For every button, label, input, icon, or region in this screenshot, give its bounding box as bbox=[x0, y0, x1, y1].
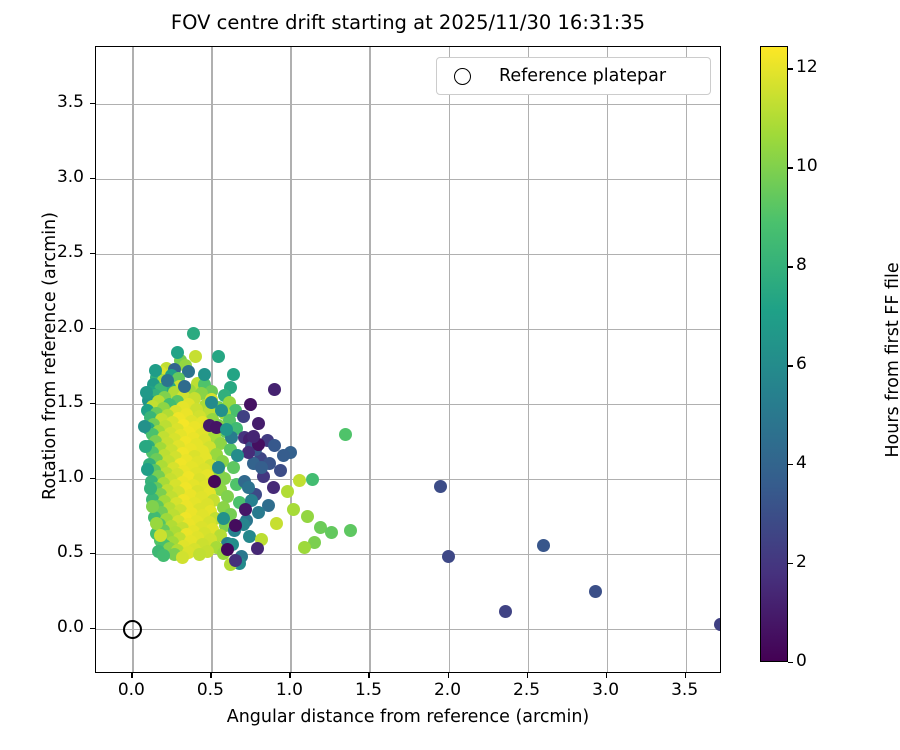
x-tick-mark bbox=[289, 673, 290, 678]
scatter-point bbox=[270, 517, 283, 530]
gridline-horizontal bbox=[96, 479, 720, 480]
scatter-point bbox=[182, 426, 195, 439]
scatter-point bbox=[225, 431, 238, 444]
scatter-point bbox=[223, 396, 236, 409]
scatter-point bbox=[160, 513, 173, 526]
scatter-point bbox=[154, 529, 167, 542]
x-tick-label: 3.0 bbox=[576, 680, 636, 700]
scatter-point bbox=[184, 489, 197, 502]
scatter-point bbox=[180, 528, 193, 541]
y-tick-mark bbox=[90, 403, 95, 404]
scatter-point bbox=[217, 501, 230, 514]
scatter-point bbox=[199, 399, 212, 412]
scatter-point bbox=[267, 481, 280, 494]
scatter-point bbox=[182, 365, 195, 378]
scatter-point bbox=[172, 440, 185, 453]
scatter-point bbox=[155, 460, 168, 473]
scatter-point bbox=[242, 446, 255, 459]
scatter-point bbox=[207, 494, 220, 507]
scatter-plot-axes[interactable] bbox=[95, 46, 721, 673]
scatter-point bbox=[191, 485, 204, 498]
scatter-point bbox=[161, 530, 174, 543]
scatter-point bbox=[169, 526, 182, 539]
scatter-point bbox=[165, 444, 178, 457]
scatter-point bbox=[218, 407, 231, 420]
gridline-vertical bbox=[528, 47, 529, 672]
scatter-point bbox=[150, 517, 163, 530]
scatter-point bbox=[261, 434, 274, 447]
scatter-point bbox=[158, 449, 171, 462]
scatter-point bbox=[203, 406, 216, 419]
scatter-point bbox=[203, 419, 216, 432]
scatter-point bbox=[249, 488, 262, 501]
gridline-vertical bbox=[211, 47, 212, 672]
scatter-point bbox=[208, 430, 221, 443]
gridline-vertical bbox=[686, 47, 687, 672]
scatter-point bbox=[168, 386, 181, 399]
scatter-point bbox=[154, 488, 167, 501]
scatter-point bbox=[196, 445, 209, 458]
scatter-point bbox=[161, 409, 174, 422]
scatter-point bbox=[141, 463, 154, 476]
scatter-point bbox=[167, 509, 180, 522]
scatter-point bbox=[287, 503, 300, 516]
scatter-point bbox=[212, 419, 225, 432]
scatter-point bbox=[157, 524, 170, 537]
scatter-point bbox=[154, 383, 167, 396]
scatter-point bbox=[184, 443, 197, 456]
colorbar-tick-mark bbox=[788, 662, 793, 663]
scatter-point bbox=[245, 494, 258, 507]
scatter-point bbox=[144, 482, 157, 495]
scatter-point bbox=[189, 350, 202, 363]
scatter-point bbox=[150, 527, 163, 540]
colorbar-tick-mark bbox=[788, 167, 793, 168]
scatter-point bbox=[159, 420, 172, 433]
scatter-point bbox=[152, 545, 165, 558]
figure-canvas: FOV centre drift starting at 2025/11/30 … bbox=[0, 0, 900, 750]
colorbar-gradient bbox=[760, 46, 788, 662]
scatter-point bbox=[185, 415, 198, 428]
scatter-point bbox=[238, 475, 251, 488]
scatter-point bbox=[249, 443, 262, 456]
scatter-point bbox=[154, 534, 167, 547]
scatter-point bbox=[148, 464, 161, 477]
x-tick-mark bbox=[131, 673, 132, 678]
scatter-point bbox=[154, 442, 167, 455]
scatter-point bbox=[229, 519, 242, 532]
colorbar-label: Hours from first FF file bbox=[883, 50, 900, 670]
scatter-point bbox=[257, 470, 270, 483]
scatter-point bbox=[182, 518, 195, 531]
scatter-point bbox=[237, 410, 250, 423]
scatter-point bbox=[190, 515, 203, 528]
scatter-point bbox=[198, 463, 211, 476]
scatter-point bbox=[177, 465, 190, 478]
scatter-point bbox=[214, 529, 227, 542]
scatter-point bbox=[214, 437, 227, 450]
scatter-point bbox=[235, 550, 248, 563]
scatter-point bbox=[188, 392, 201, 405]
scatter-point bbox=[226, 538, 239, 551]
scatter-point bbox=[254, 452, 267, 465]
scatter-point bbox=[187, 479, 200, 492]
scatter-point bbox=[144, 386, 157, 399]
scatter-point bbox=[308, 536, 321, 549]
scatter-point bbox=[182, 471, 195, 484]
x-tick-label: 0.5 bbox=[180, 680, 240, 700]
scatter-point bbox=[177, 540, 190, 553]
scatter-point bbox=[221, 537, 234, 550]
scatter-point bbox=[180, 500, 193, 513]
scatter-point bbox=[227, 368, 240, 381]
y-tick-mark bbox=[90, 478, 95, 479]
scatter-point bbox=[169, 405, 182, 418]
scatter-point bbox=[243, 530, 256, 543]
scatter-point bbox=[203, 516, 216, 529]
scatter-point bbox=[176, 476, 189, 489]
scatter-point bbox=[151, 500, 164, 513]
scatter-point bbox=[147, 418, 160, 431]
colorbar-tick-mark bbox=[788, 68, 793, 69]
gridline-horizontal bbox=[96, 629, 720, 630]
y-tick-mark bbox=[90, 328, 95, 329]
scatter-point bbox=[298, 541, 311, 554]
scatter-point bbox=[219, 425, 232, 438]
scatter-point bbox=[174, 458, 187, 471]
scatter-point bbox=[147, 378, 160, 391]
scatter-point bbox=[243, 433, 256, 446]
scatter-point bbox=[150, 371, 163, 384]
scatter-point bbox=[191, 531, 204, 544]
scatter-point bbox=[158, 391, 171, 404]
scatter-point bbox=[224, 508, 237, 521]
scatter-point bbox=[221, 490, 234, 503]
gridline-horizontal bbox=[96, 329, 720, 330]
colorbar-tick-label: 0 bbox=[796, 651, 807, 671]
scatter-point bbox=[212, 350, 225, 363]
scatter-point bbox=[212, 461, 225, 474]
scatter-point bbox=[268, 383, 281, 396]
scatter-point bbox=[179, 482, 192, 495]
scatter-point bbox=[198, 527, 211, 540]
scatter-point bbox=[148, 511, 161, 524]
x-tick-mark bbox=[448, 673, 449, 678]
gridline-vertical bbox=[290, 47, 291, 672]
scatter-point bbox=[220, 423, 233, 436]
scatter-point bbox=[179, 359, 192, 372]
scatter-point bbox=[174, 429, 187, 442]
scatter-point bbox=[240, 514, 253, 527]
x-tick-label: 1.0 bbox=[259, 680, 319, 700]
scatter-point bbox=[187, 525, 200, 538]
scatter-point bbox=[325, 526, 338, 539]
colorbar-tick-label: 4 bbox=[796, 453, 807, 473]
colorbar-tick-label: 6 bbox=[796, 354, 807, 374]
gridline-vertical bbox=[132, 47, 133, 672]
scatter-point bbox=[163, 502, 176, 515]
scatter-point bbox=[188, 450, 201, 463]
scatter-point bbox=[212, 401, 225, 414]
scatter-point bbox=[152, 470, 165, 483]
scatter-point bbox=[344, 524, 357, 537]
scatter-point bbox=[212, 466, 225, 479]
x-axis-label: Angular distance from reference (arcmin) bbox=[95, 707, 721, 727]
scatter-point bbox=[252, 438, 265, 451]
scatter-point bbox=[293, 474, 306, 487]
scatter-point bbox=[141, 404, 154, 417]
scatter-point bbox=[247, 430, 260, 443]
scatter-point bbox=[138, 420, 151, 433]
scatter-point bbox=[146, 500, 159, 513]
scatter-point bbox=[149, 435, 162, 448]
scatter-point bbox=[177, 390, 190, 403]
scatter-point bbox=[193, 410, 206, 423]
scatter-point bbox=[155, 413, 168, 426]
scatter-point bbox=[233, 557, 246, 570]
scatter-point bbox=[196, 509, 209, 522]
colorbar-tick-label: 10 bbox=[796, 156, 818, 176]
scatter-point bbox=[169, 479, 182, 492]
scatter-point bbox=[268, 439, 281, 452]
scatter-point bbox=[149, 389, 162, 402]
scatter-point bbox=[145, 475, 158, 488]
scatter-point bbox=[239, 503, 252, 516]
scatter-point bbox=[255, 533, 268, 546]
scatter-point bbox=[217, 512, 230, 525]
colorbar-tick-mark bbox=[788, 563, 793, 564]
scatter-point bbox=[143, 458, 156, 471]
gridline-horizontal bbox=[96, 554, 720, 555]
scatter-point bbox=[224, 443, 237, 456]
scatter-point bbox=[139, 440, 152, 453]
y-axis-label: Rotation from reference (arcmin) bbox=[40, 41, 60, 671]
gridline-horizontal bbox=[96, 404, 720, 405]
scatter-point bbox=[224, 381, 237, 394]
scatter-point bbox=[160, 362, 173, 375]
x-tick-label: 2.0 bbox=[418, 680, 478, 700]
scatter-point bbox=[142, 440, 155, 453]
scatter-point bbox=[214, 483, 227, 496]
scatter-point bbox=[160, 467, 173, 480]
x-tick-label: 3.5 bbox=[655, 680, 715, 700]
scatter-point bbox=[178, 380, 191, 393]
scatter-point bbox=[262, 499, 275, 512]
scatter-point bbox=[247, 457, 260, 470]
colorbar-tick-mark bbox=[788, 266, 793, 267]
scatter-point bbox=[195, 428, 208, 441]
scatter-point bbox=[140, 386, 153, 399]
scatter-point bbox=[172, 486, 185, 499]
scatter-point bbox=[206, 413, 219, 426]
scatter-point bbox=[150, 482, 163, 495]
scatter-point bbox=[158, 539, 171, 552]
scatter-point bbox=[537, 539, 550, 552]
scatter-point bbox=[230, 422, 243, 435]
scatter-point bbox=[229, 404, 242, 417]
scatter-point bbox=[191, 377, 204, 390]
scatter-point bbox=[166, 536, 179, 549]
scatter-point bbox=[281, 485, 294, 498]
colorbar-tick-label: 12 bbox=[796, 57, 818, 77]
scatter-point bbox=[176, 522, 189, 535]
colorbar-tick-mark bbox=[788, 464, 793, 465]
scatter-point bbox=[184, 535, 197, 548]
scatter-point bbox=[198, 378, 211, 391]
legend-entry-label: Reference platepar bbox=[499, 66, 666, 86]
scatter-point bbox=[158, 495, 171, 508]
gridline-horizontal bbox=[96, 104, 720, 105]
scatter-point bbox=[196, 538, 209, 551]
y-tick-mark bbox=[90, 628, 95, 629]
scatter-point bbox=[188, 497, 201, 510]
scatter-point bbox=[227, 461, 240, 474]
scatter-point bbox=[188, 421, 201, 434]
scatter-point bbox=[245, 441, 258, 454]
scatter-point bbox=[203, 487, 216, 500]
scatter-point bbox=[252, 417, 265, 430]
scatter-point bbox=[146, 428, 159, 441]
scatter-point bbox=[172, 372, 185, 385]
scatter-point bbox=[223, 414, 236, 427]
scatter-point bbox=[190, 438, 203, 451]
scatter-point bbox=[172, 412, 185, 425]
scatter-point bbox=[161, 374, 174, 387]
scatter-point bbox=[144, 411, 157, 424]
scatter-point bbox=[203, 441, 216, 454]
scatter-point bbox=[163, 381, 176, 394]
scatter-point bbox=[165, 491, 178, 504]
colorbar-tick-mark bbox=[788, 365, 793, 366]
scatter-point bbox=[173, 532, 186, 545]
scatter-point bbox=[277, 449, 290, 462]
gridline-vertical bbox=[607, 47, 608, 672]
scatter-point bbox=[274, 464, 287, 477]
scatter-point bbox=[233, 496, 246, 509]
x-tick-label: 2.5 bbox=[497, 680, 557, 700]
scatter-point bbox=[183, 384, 196, 397]
scatter-point bbox=[174, 504, 187, 517]
scatter-point bbox=[218, 389, 231, 402]
scatter-point bbox=[229, 554, 242, 567]
scatter-point bbox=[198, 368, 211, 381]
gridline-vertical bbox=[369, 47, 370, 672]
scatter-point bbox=[180, 454, 193, 467]
x-tick-mark bbox=[606, 673, 607, 678]
scatter-point bbox=[177, 494, 190, 507]
scatter-point bbox=[171, 395, 184, 408]
scatter-point bbox=[169, 451, 182, 464]
x-tick-label: 1.5 bbox=[338, 680, 398, 700]
scatter-point bbox=[179, 512, 192, 525]
scatter-point bbox=[185, 507, 198, 520]
scatter-point bbox=[177, 419, 190, 432]
scatter-point bbox=[499, 605, 512, 618]
scatter-point bbox=[182, 546, 195, 559]
gridline-horizontal bbox=[96, 254, 720, 255]
scatter-point bbox=[161, 484, 174, 497]
scatter-point bbox=[215, 404, 228, 417]
scatter-point bbox=[255, 461, 268, 474]
scatter-point bbox=[187, 432, 200, 445]
scatter-point bbox=[162, 455, 175, 468]
scatter-point bbox=[195, 521, 208, 534]
scatter-point bbox=[161, 437, 174, 450]
y-tick-mark bbox=[90, 178, 95, 179]
x-tick-label: 0.0 bbox=[101, 680, 161, 700]
gridline-horizontal bbox=[96, 179, 720, 180]
scatter-point bbox=[185, 461, 198, 474]
scatter-point bbox=[242, 481, 255, 494]
scatter-point bbox=[339, 428, 352, 441]
scatter-point bbox=[172, 515, 185, 528]
scatter-point bbox=[216, 455, 229, 468]
scatter-point bbox=[198, 434, 211, 447]
scatter-point bbox=[219, 519, 232, 532]
x-tick-mark bbox=[685, 673, 686, 678]
scatter-point bbox=[157, 549, 170, 562]
reference-platepar-marker bbox=[123, 620, 142, 639]
colorbar[interactable] bbox=[760, 46, 788, 662]
scatter-point bbox=[180, 408, 193, 421]
scatter-point bbox=[238, 431, 251, 444]
legend-box[interactable]: Reference platepar bbox=[436, 57, 711, 95]
scatter-point bbox=[208, 475, 221, 488]
scatter-point bbox=[157, 374, 170, 387]
colorbar-tick-label: 2 bbox=[796, 552, 807, 572]
legend-open-circle-icon bbox=[454, 68, 471, 85]
scatter-point bbox=[171, 346, 184, 359]
gridline-vertical bbox=[449, 47, 450, 672]
y-tick-mark bbox=[90, 103, 95, 104]
scatter-point bbox=[237, 518, 250, 531]
scatter-point bbox=[153, 518, 166, 531]
scatter-point bbox=[170, 497, 183, 510]
scatter-point bbox=[191, 456, 204, 469]
scatter-point bbox=[231, 449, 244, 462]
scatter-point bbox=[434, 480, 447, 493]
scatter-point bbox=[166, 416, 179, 429]
scatter-point bbox=[176, 447, 189, 460]
scatter-point bbox=[146, 446, 159, 459]
scatter-point bbox=[146, 493, 159, 506]
scatter-point bbox=[165, 369, 178, 382]
scatter-point bbox=[146, 400, 159, 413]
scatter-point bbox=[174, 354, 187, 367]
scatter-point bbox=[171, 423, 184, 436]
y-tick-mark bbox=[90, 553, 95, 554]
scatter-point bbox=[314, 521, 327, 534]
scatter-point bbox=[589, 585, 602, 598]
y-tick-mark bbox=[90, 253, 95, 254]
scatter-point bbox=[168, 363, 181, 376]
x-tick-mark bbox=[368, 673, 369, 678]
scatter-point bbox=[168, 433, 181, 446]
colorbar-tick-label: 8 bbox=[796, 255, 807, 275]
scatter-point bbox=[193, 503, 206, 516]
scatter-point bbox=[149, 364, 162, 377]
scatter-point bbox=[176, 551, 189, 564]
scatter-point bbox=[142, 422, 155, 435]
scatter-point bbox=[152, 425, 165, 438]
scatter-point bbox=[228, 524, 241, 537]
scatter-point bbox=[165, 520, 178, 533]
scatter-point bbox=[224, 558, 237, 571]
scatter-point bbox=[150, 407, 163, 420]
scatter-point bbox=[155, 506, 168, 519]
scatter-point bbox=[163, 542, 176, 555]
scatter-point bbox=[152, 395, 165, 408]
